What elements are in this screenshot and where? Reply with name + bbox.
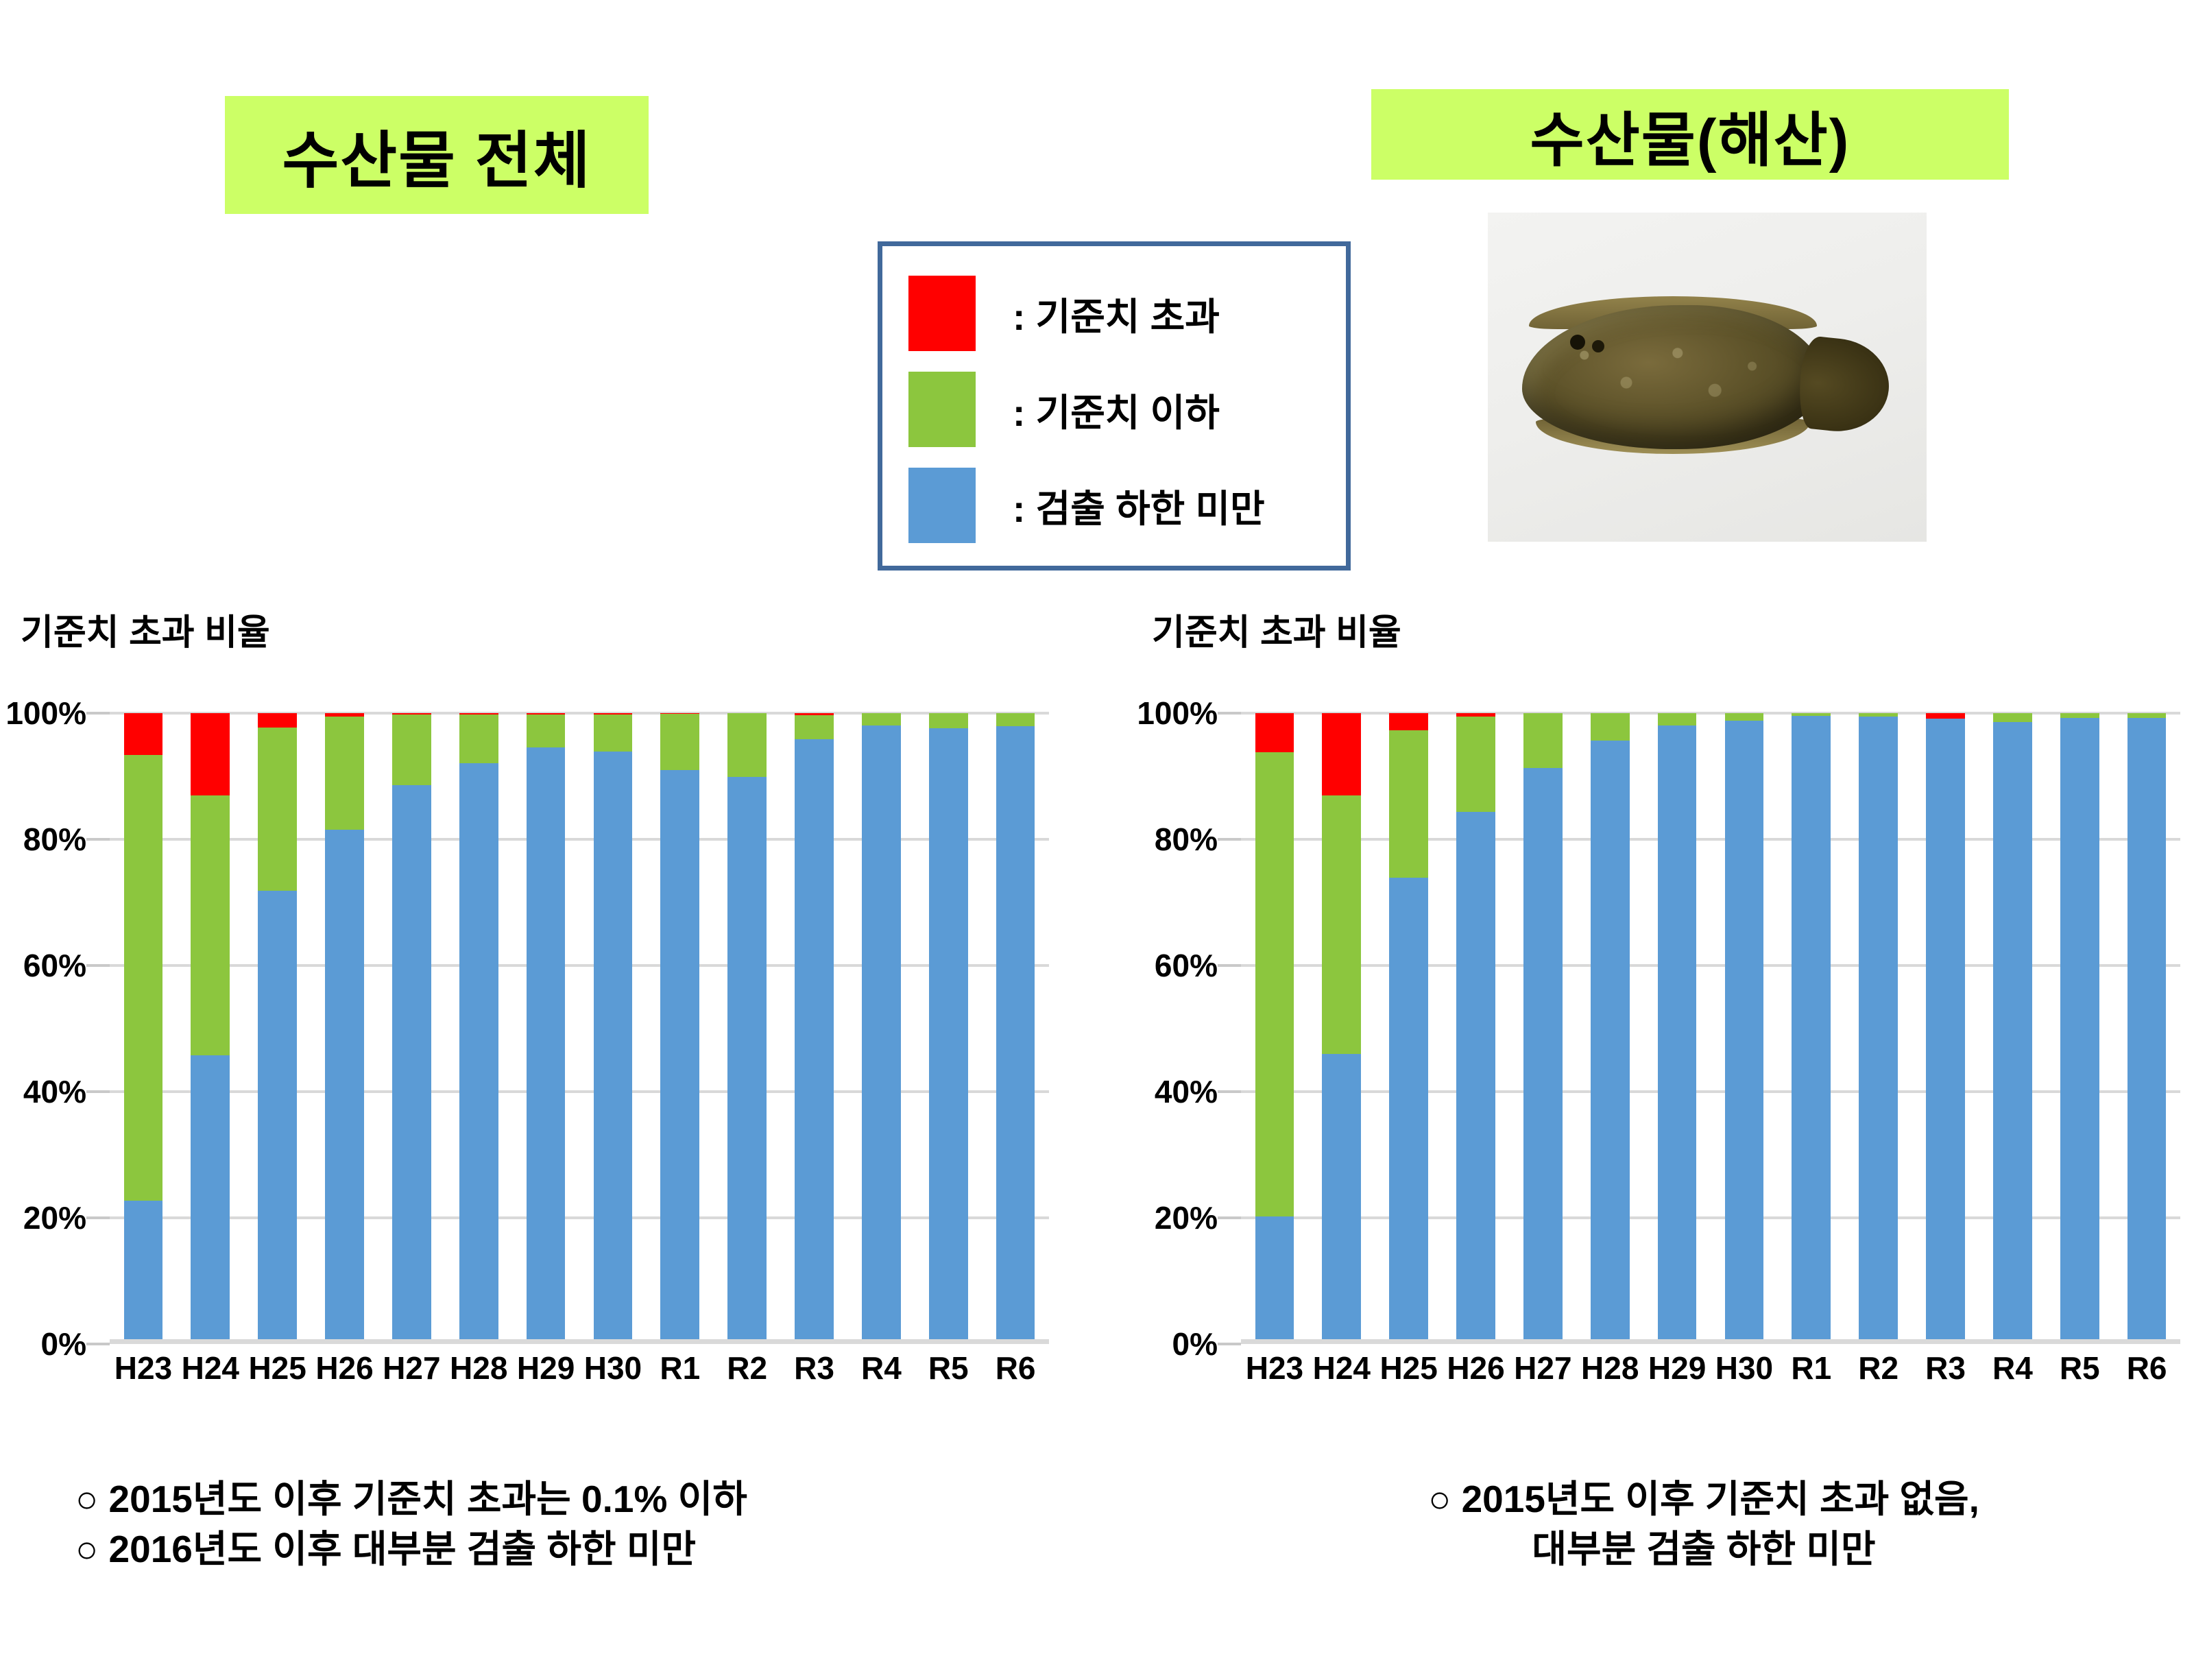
- y-tick-mark: [1218, 712, 1241, 715]
- y-tick-mark: [86, 1090, 110, 1093]
- chart-right-bars: [1241, 713, 2180, 1344]
- chart-right-x-labels: H23H24H25H26H27H28H29H30R1R2R3R4R5R6: [1241, 1349, 2180, 1387]
- bar-segment-green[interactable]: [1456, 717, 1495, 812]
- bar-slot[interactable]: [915, 713, 982, 1344]
- x-tick-label: H29: [1643, 1349, 1711, 1387]
- fish-speckles: [1556, 322, 1789, 432]
- bar-segment-blue[interactable]: [929, 728, 968, 1344]
- chart-left-x-labels: H23H24H25H26H27H28H29H30R1R2R3R4R5R6: [110, 1349, 1049, 1387]
- bar-slot[interactable]: [311, 713, 378, 1344]
- stacked-bar[interactable]: [1389, 713, 1428, 1344]
- slide-root: 수산물 전체 수산물(해산) : 기준치 초과 : 기준치 이하 : 검출 하한…: [0, 0, 2194, 1680]
- bar-segment-green[interactable]: [1993, 713, 2032, 722]
- bar-segment-green[interactable]: [2127, 713, 2167, 718]
- bullets-right: ○ 2015년도 이후 기준치 초과 없음, 대부분 검출 하한 미만: [1275, 1474, 2132, 1574]
- chart-left-y-axis: 0%20%40%60%80%100%: [0, 713, 110, 1344]
- stacked-bar[interactable]: [191, 713, 230, 1344]
- chart-left-bars: [110, 713, 1049, 1344]
- y-tick-mark: [86, 1343, 110, 1345]
- bar-segment-blue[interactable]: [727, 777, 767, 1344]
- y-tick-label: 80%: [1155, 821, 1218, 858]
- bar-slot[interactable]: [1308, 713, 1375, 1344]
- bar-segment-blue[interactable]: [1725, 721, 1764, 1344]
- bullets-left: ○ 2015년도 이후 기준치 초과는 0.1% 이하 ○ 2016년도 이후 …: [75, 1474, 747, 1574]
- stacked-bar[interactable]: [258, 713, 297, 1344]
- title-right: 수산물(해산): [1371, 89, 2009, 180]
- bar-segment-blue[interactable]: [1859, 717, 1898, 1344]
- bar-slot[interactable]: [579, 713, 647, 1344]
- bar-segment-blue[interactable]: [527, 747, 566, 1344]
- bar-segment-green[interactable]: [392, 715, 431, 785]
- chart-right-caption: 기준치 초과 비율: [1152, 603, 1401, 655]
- stacked-bar[interactable]: [594, 713, 633, 1344]
- bar-segment-blue[interactable]: [594, 752, 633, 1344]
- stacked-bar[interactable]: [1255, 713, 1294, 1344]
- x-tick-label: R5: [2046, 1349, 2113, 1387]
- bullet-circle-icon: ○: [75, 1478, 98, 1520]
- stacked-bar[interactable]: [2127, 713, 2167, 1344]
- bullet-left-2: ○ 2016년도 이후 대부분 검출 하한 미만: [75, 1524, 747, 1574]
- stacked-bar[interactable]: [1322, 713, 1361, 1344]
- x-tick-label: H26: [1443, 1349, 1510, 1387]
- x-tick-label: R3: [781, 1349, 848, 1387]
- bar-segment-blue[interactable]: [325, 830, 364, 1344]
- flounder-photo: [1488, 213, 1927, 542]
- y-tick-mark: [1218, 838, 1241, 841]
- bar-slot[interactable]: [2046, 713, 2113, 1344]
- bullet-left-1-text: 2015년도 이후 기준치 초과는 0.1% 이하: [109, 1478, 747, 1520]
- stacked-bar[interactable]: [527, 713, 566, 1344]
- y-tick-label: 40%: [1155, 1073, 1218, 1110]
- bar-segment-blue[interactable]: [996, 726, 1035, 1344]
- y-tick-mark: [86, 838, 110, 841]
- bar-segment-green[interactable]: [594, 715, 633, 752]
- bar-segment-blue[interactable]: [1255, 1216, 1294, 1344]
- bar-slot[interactable]: [2113, 713, 2180, 1344]
- chart-right-plot-area: 0%20%40%60%80%100% H23H24H25H26H27H28H29…: [1131, 713, 2194, 1371]
- x-tick-label: H23: [1241, 1349, 1308, 1387]
- bar-slot[interactable]: [1509, 713, 1576, 1344]
- stacked-bar[interactable]: [660, 713, 699, 1344]
- bar-segment-green[interactable]: [191, 795, 230, 1055]
- bar-segment-green[interactable]: [1658, 713, 1697, 725]
- bar-segment-blue[interactable]: [459, 763, 498, 1344]
- x-tick-label: H27: [1509, 1349, 1576, 1387]
- bar-slot[interactable]: [1375, 713, 1443, 1344]
- bar-slot[interactable]: [244, 713, 311, 1344]
- x-tick-label: H24: [177, 1349, 244, 1387]
- stacked-bar[interactable]: [1859, 713, 1898, 1344]
- bullet-right-2-text: 대부분 검출 하한 미만: [1532, 1528, 1875, 1570]
- legend-item-belowdl: : 검출 하한 미만: [908, 457, 1346, 553]
- stacked-bar[interactable]: [727, 713, 767, 1344]
- bar-slot[interactable]: [847, 713, 915, 1344]
- x-tick-label: H29: [512, 1349, 579, 1387]
- title-left: 수산물 전체: [225, 96, 649, 214]
- x-tick-label: R2: [714, 1349, 781, 1387]
- green-square-icon: [908, 372, 976, 447]
- chart-left-caption: 기준치 초과 비율: [21, 603, 270, 655]
- bar-slot[interactable]: [1778, 713, 1845, 1344]
- bar-slot[interactable]: [1845, 713, 1912, 1344]
- legend-item-over: : 기준치 초과: [908, 265, 1346, 361]
- bar-segment-blue[interactable]: [660, 770, 699, 1344]
- bar-segment-red[interactable]: [1322, 713, 1361, 795]
- x-tick-label: H28: [1576, 1349, 1643, 1387]
- bar-segment-green[interactable]: [124, 755, 163, 1201]
- stacked-bar[interactable]: [996, 713, 1035, 1344]
- bar-segment-blue[interactable]: [1322, 1054, 1361, 1344]
- bar-segment-green[interactable]: [459, 715, 498, 763]
- bullet-right-2: 대부분 검출 하한 미만: [1275, 1524, 2132, 1574]
- bar-segment-green[interactable]: [929, 713, 968, 728]
- bar-slot[interactable]: [1643, 713, 1711, 1344]
- stacked-bar[interactable]: [1456, 713, 1495, 1344]
- bullet-right-1: ○ 2015년도 이후 기준치 초과 없음,: [1275, 1474, 2132, 1524]
- legend-label-over: : 기준치 초과: [1013, 286, 1220, 341]
- x-tick-label: R1: [647, 1349, 714, 1387]
- bullet-right-1-text: 2015년도 이후 기준치 초과 없음,: [1462, 1478, 1979, 1520]
- chart-right-plot: [1241, 713, 2180, 1344]
- x-tick-label: R6: [2113, 1349, 2180, 1387]
- bar-slot[interactable]: [110, 713, 177, 1344]
- y-tick-label: 40%: [23, 1073, 86, 1110]
- bar-slot[interactable]: [1443, 713, 1510, 1344]
- bar-segment-red[interactable]: [1926, 713, 1965, 719]
- y-tick-mark: [86, 712, 110, 715]
- bullet-circle-icon: ○: [1428, 1478, 1451, 1520]
- y-tick-label: 80%: [23, 821, 86, 858]
- bar-segment-green[interactable]: [2060, 713, 2099, 718]
- x-tick-label: H28: [445, 1349, 512, 1387]
- bar-segment-green[interactable]: [1389, 730, 1428, 878]
- y-tick-label: 60%: [1155, 947, 1218, 984]
- y-tick-label: 20%: [1155, 1199, 1218, 1236]
- x-tick-label: R6: [982, 1349, 1049, 1387]
- stacked-bar[interactable]: [1926, 713, 1965, 1344]
- bar-segment-green[interactable]: [1322, 795, 1361, 1054]
- chart-left-plot-area: 0%20%40%60%80%100% H23H24H25H26H27H28H29…: [0, 713, 1097, 1371]
- bar-segment-blue[interactable]: [1523, 768, 1563, 1344]
- bar-slot[interactable]: [177, 713, 244, 1344]
- bar-segment-red[interactable]: [258, 713, 297, 728]
- bar-slot[interactable]: [982, 713, 1049, 1344]
- legend-label-belowdl: : 검출 하한 미만: [1013, 478, 1265, 533]
- bar-segment-green[interactable]: [660, 714, 699, 770]
- chart-left-x-axisline: [110, 1339, 1049, 1344]
- y-tick-mark: [1218, 1090, 1241, 1093]
- stacked-bar[interactable]: [1792, 713, 1831, 1344]
- bar-segment-green[interactable]: [1255, 752, 1294, 1216]
- stacked-bar[interactable]: [124, 713, 163, 1344]
- fish-eye: [1570, 335, 1585, 350]
- bar-slot[interactable]: [1979, 713, 2046, 1344]
- bar-slot[interactable]: [512, 713, 579, 1344]
- stacked-bar[interactable]: [1591, 713, 1630, 1344]
- y-tick-label: 100%: [1137, 695, 1218, 732]
- bar-slot[interactable]: [1576, 713, 1643, 1344]
- x-tick-label: H30: [1711, 1349, 1778, 1387]
- x-tick-label: R5: [915, 1349, 982, 1387]
- bar-segment-green[interactable]: [1591, 713, 1630, 741]
- bar-segment-green[interactable]: [727, 713, 767, 777]
- chart-left-plot: [110, 713, 1049, 1344]
- x-tick-label: H25: [244, 1349, 311, 1387]
- bar-segment-red[interactable]: [1389, 713, 1428, 730]
- bullet-left-2-text: 2016년도 이후 대부분 검출 하한 미만: [109, 1528, 697, 1570]
- y-tick-label: 0%: [41, 1325, 86, 1363]
- stacked-bar[interactable]: [862, 713, 901, 1344]
- bar-segment-blue[interactable]: [1389, 878, 1428, 1344]
- stacked-bar[interactable]: [459, 713, 498, 1344]
- bar-slot[interactable]: [445, 713, 512, 1344]
- bar-slot[interactable]: [378, 713, 445, 1344]
- x-tick-label: R3: [1912, 1349, 1979, 1387]
- bar-segment-red[interactable]: [124, 713, 163, 755]
- stacked-bar[interactable]: [1523, 713, 1563, 1344]
- x-tick-label: R1: [1778, 1349, 1845, 1387]
- bar-segment-blue[interactable]: [862, 725, 901, 1344]
- stacked-bar[interactable]: [1725, 713, 1764, 1344]
- bar-segment-red[interactable]: [1255, 713, 1294, 752]
- y-tick-label: 20%: [23, 1199, 86, 1236]
- stacked-bar[interactable]: [1658, 713, 1697, 1344]
- bar-segment-green[interactable]: [325, 717, 364, 830]
- stacked-bar[interactable]: [929, 713, 968, 1344]
- y-tick-mark: [86, 1216, 110, 1219]
- x-tick-label: H27: [378, 1349, 445, 1387]
- stacked-bar[interactable]: [1993, 713, 2032, 1344]
- x-tick-label: H23: [110, 1349, 177, 1387]
- bar-segment-blue[interactable]: [1591, 741, 1630, 1344]
- x-tick-label: H26: [311, 1349, 378, 1387]
- y-tick-label: 0%: [1172, 1325, 1218, 1363]
- stacked-bar[interactable]: [392, 713, 431, 1344]
- legend-box: : 기준치 초과 : 기준치 이하 : 검출 하한 미만: [878, 241, 1351, 571]
- bar-slot[interactable]: [647, 713, 714, 1344]
- bar-segment-blue[interactable]: [1658, 725, 1697, 1344]
- fish-tail: [1795, 335, 1893, 437]
- x-tick-label: H30: [579, 1349, 647, 1387]
- y-tick-mark: [86, 964, 110, 967]
- red-square-icon: [908, 276, 976, 351]
- bar-segment-blue[interactable]: [124, 1201, 163, 1344]
- bar-segment-red[interactable]: [191, 713, 230, 795]
- y-tick-label: 100%: [5, 695, 86, 732]
- stacked-bar[interactable]: [795, 713, 834, 1344]
- x-tick-label: R4: [847, 1349, 915, 1387]
- bar-segment-blue[interactable]: [258, 891, 297, 1344]
- bar-segment-blue[interactable]: [795, 739, 834, 1344]
- bar-segment-green[interactable]: [527, 715, 566, 747]
- legend-label-under: : 기준치 이하: [1013, 382, 1220, 437]
- bar-slot[interactable]: [1912, 713, 1979, 1344]
- bar-segment-blue[interactable]: [392, 785, 431, 1344]
- x-tick-label: R4: [1979, 1349, 2046, 1387]
- bar-segment-green[interactable]: [258, 728, 297, 891]
- bar-segment-blue[interactable]: [191, 1055, 230, 1344]
- x-tick-label: R2: [1845, 1349, 1912, 1387]
- bar-slot[interactable]: [781, 713, 848, 1344]
- x-tick-label: H25: [1375, 1349, 1443, 1387]
- blue-square-icon: [908, 468, 976, 543]
- bar-segment-green[interactable]: [862, 713, 901, 725]
- bar-segment-blue[interactable]: [1993, 722, 2032, 1344]
- stacked-bar[interactable]: [325, 713, 364, 1344]
- bar-segment-green[interactable]: [795, 715, 834, 739]
- bar-segment-green[interactable]: [1725, 713, 1764, 721]
- bullet-circle-icon: ○: [75, 1528, 98, 1570]
- bar-segment-green[interactable]: [1523, 713, 1563, 768]
- bar-segment-blue[interactable]: [1456, 812, 1495, 1344]
- y-tick-mark: [1218, 1343, 1241, 1345]
- stacked-bar[interactable]: [2060, 713, 2099, 1344]
- x-tick-label: H24: [1308, 1349, 1375, 1387]
- bar-slot[interactable]: [1241, 713, 1308, 1344]
- bar-slot[interactable]: [714, 713, 781, 1344]
- bullet-left-1: ○ 2015년도 이후 기준치 초과는 0.1% 이하: [75, 1474, 747, 1524]
- bar-segment-blue[interactable]: [1926, 719, 1965, 1344]
- legend-item-under: : 기준치 이하: [908, 361, 1346, 457]
- bar-segment-blue[interactable]: [2060, 718, 2099, 1344]
- y-tick-mark: [1218, 964, 1241, 967]
- bar-segment-blue[interactable]: [2127, 718, 2167, 1344]
- y-tick-mark: [1218, 1216, 1241, 1219]
- bar-segment-blue[interactable]: [1792, 716, 1831, 1344]
- bar-slot[interactable]: [1711, 713, 1778, 1344]
- chart-right-x-axisline: [1241, 1339, 2180, 1344]
- chart-right-y-axis: 0%20%40%60%80%100%: [1131, 713, 1241, 1344]
- y-tick-label: 60%: [23, 947, 86, 984]
- bar-segment-green[interactable]: [996, 713, 1035, 726]
